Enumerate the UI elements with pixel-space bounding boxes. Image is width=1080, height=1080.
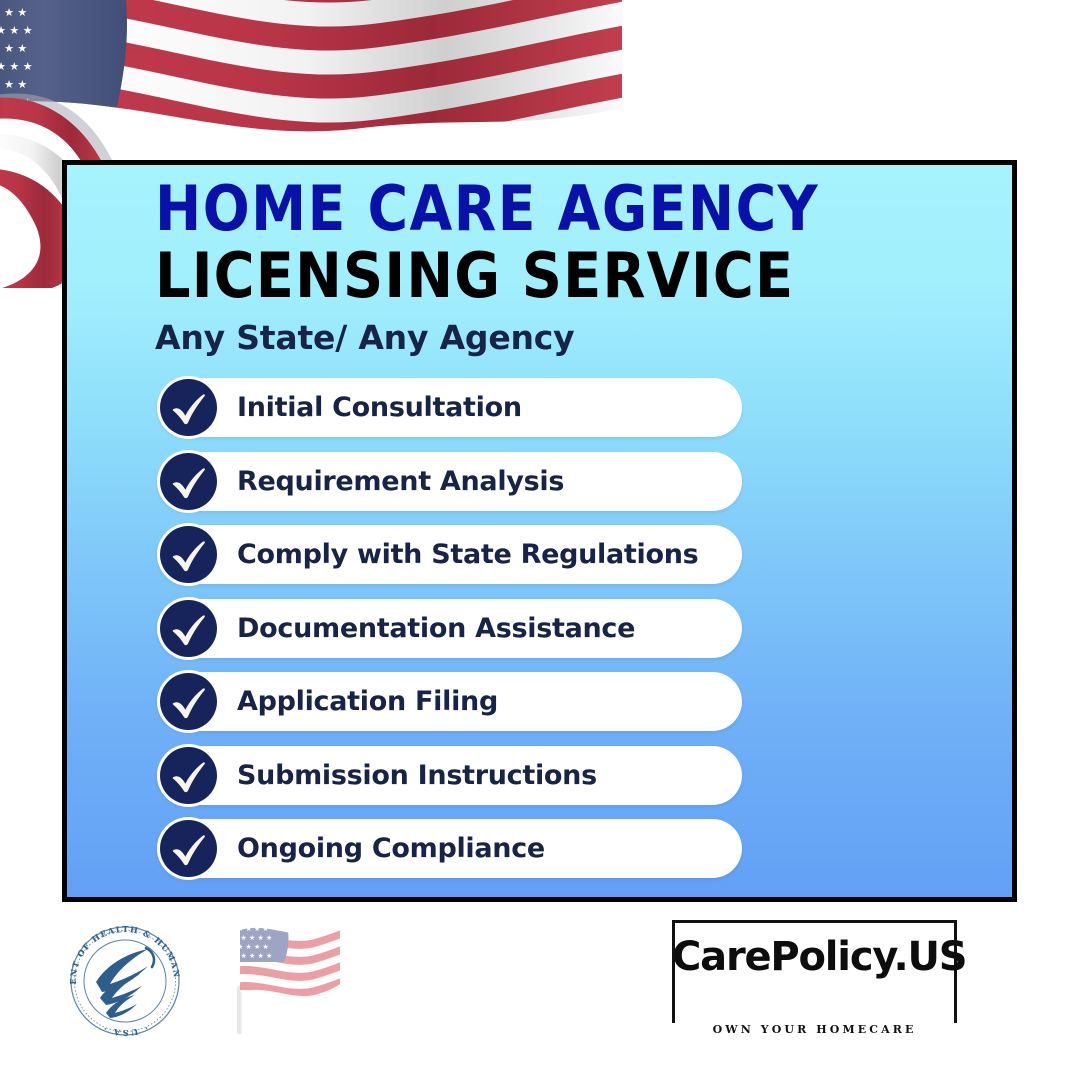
svg-text:★ ★ ★ ★ ★: ★ ★ ★ ★ ★ [232, 934, 272, 942]
svg-text:★ ★ ★ ★ ★: ★ ★ ★ ★ ★ [232, 952, 272, 960]
usa-flag-on-pole-icon: ★ ★ ★ ★ ★ ★ ★ ★ ★ ★ ★ ★ ★ ★ ★ ★ ★ ★ ★ ★ … [228, 918, 346, 1036]
svg-text:· USA ·: · USA · [100, 1023, 150, 1038]
check-mark-icon [160, 600, 217, 657]
checklist-item[interactable]: Initial Consultation [157, 378, 757, 437]
svg-text:★ ★ ★ ★ ★: ★ ★ ★ ★ ★ [0, 6, 27, 19]
checklist-item-label: Ongoing Compliance [237, 819, 545, 878]
service-checklist: Initial ConsultationRequirement Analysis… [157, 378, 757, 893]
checklist-item[interactable]: Submission Instructions [157, 746, 757, 805]
promo-card: HOME CARE AGENCY LICENSING SERVICE Any S… [62, 160, 1017, 902]
svg-text:★ ★ ★ ★: ★ ★ ★ ★ [237, 925, 269, 933]
checklist-item-label: Documentation Assistance [237, 599, 635, 658]
hhs-ring-text-top: DEPARTMENT OF HEALTH & HUMAN SERVICES [62, 918, 182, 985]
checklist-item-label: Comply with State Regulations [237, 525, 698, 584]
checklist-item-label: Submission Instructions [237, 746, 597, 805]
page-title-secondary: LICENSING SERVICE [155, 243, 955, 309]
checklist-item[interactable]: Application Filing [157, 672, 757, 731]
check-circle-icon [160, 673, 217, 730]
check-circle-icon [160, 453, 217, 510]
hhs-ring-text-bottom: · USA · [100, 1023, 150, 1038]
check-circle-icon [160, 526, 217, 583]
svg-text:★ ★ ★ ★ ★ ★: ★ ★ ★ ★ ★ ★ [0, 0, 33, 1]
svg-text:★ ★ ★ ★: ★ ★ ★ ★ [237, 943, 269, 951]
svg-text:DEPARTMENT OF HEALTH & HUMAN S: DEPARTMENT OF HEALTH & HUMAN SERVICES [62, 918, 182, 985]
hhs-seal-icon: DEPARTMENT OF HEALTH & HUMAN SERVICES · … [62, 918, 188, 1044]
checklist-item-label: Initial Consultation [237, 378, 522, 437]
svg-text:★ ★ ★ ★ ★ ★: ★ ★ ★ ★ ★ ★ [0, 96, 33, 109]
checklist-item[interactable]: Requirement Analysis [157, 452, 757, 511]
check-circle-icon [160, 600, 217, 657]
check-mark-icon [160, 453, 217, 510]
page-title-primary: HOME CARE AGENCY [155, 177, 947, 241]
svg-text:★ ★ ★ ★ ★: ★ ★ ★ ★ ★ [232, 918, 272, 924]
check-mark-icon [160, 673, 217, 730]
check-circle-icon [160, 747, 217, 804]
svg-text:★ ★ ★ ★ ★ ★: ★ ★ ★ ★ ★ ★ [0, 24, 33, 37]
check-mark-icon [160, 379, 217, 436]
card-heading-block: HOME CARE AGENCY LICENSING SERVICE Any S… [155, 177, 955, 358]
checklist-item[interactable]: Documentation Assistance [157, 599, 757, 658]
brand-name: CarePolicy.US [672, 934, 957, 980]
check-mark-icon [160, 820, 217, 877]
check-mark-icon [160, 747, 217, 804]
svg-text:★ ★ ★ ★ ★: ★ ★ ★ ★ ★ [0, 78, 27, 91]
check-mark-icon [160, 526, 217, 583]
check-circle-icon [160, 820, 217, 877]
page-subtitle: Any State/ Any Agency [155, 318, 955, 358]
checklist-item-label: Requirement Analysis [237, 452, 564, 511]
brand-logo: CarePolicy.US OWN YOUR HOMECARE [672, 920, 957, 1028]
footer: DEPARTMENT OF HEALTH & HUMAN SERVICES · … [0, 902, 1080, 1080]
brand-tagline: OWN YOUR HOMECARE [672, 1023, 957, 1037]
svg-text:★ ★ ★ ★ ★ ★: ★ ★ ★ ★ ★ ★ [0, 60, 33, 73]
checklist-item[interactable]: Ongoing Compliance [157, 819, 757, 878]
checklist-item[interactable]: Comply with State Regulations [157, 525, 757, 584]
check-circle-icon [160, 379, 217, 436]
checklist-item-label: Application Filing [237, 672, 498, 731]
svg-text:★ ★ ★ ★ ★: ★ ★ ★ ★ ★ [0, 42, 27, 55]
